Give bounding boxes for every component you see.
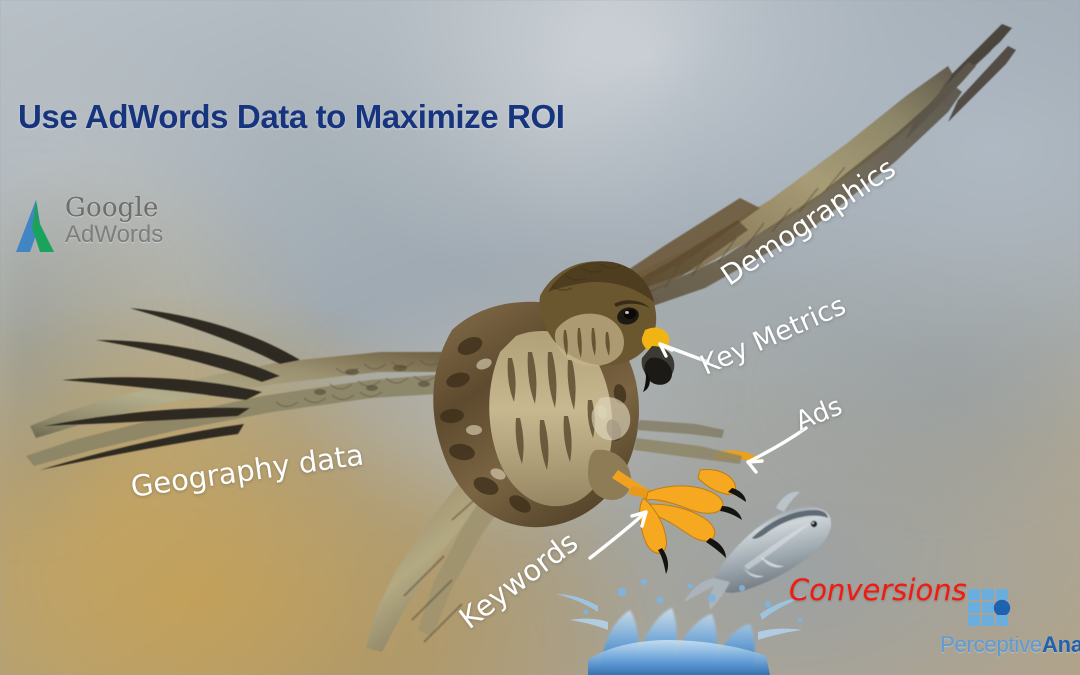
- perceptive-ana-grid-icon: [967, 588, 1011, 635]
- arrow-keywords: [590, 512, 646, 558]
- perceptive-ana-logo: PerceptiveAna: [940, 588, 1080, 660]
- brand-name-bold: Ana: [1042, 632, 1080, 657]
- bird-left-wing: [26, 308, 470, 470]
- page-title: Use AdWords Data to Maximize ROI: [18, 98, 564, 136]
- google-adwords-wordmark: Google AdWords: [65, 194, 163, 248]
- brand-name-light: Perceptive: [940, 632, 1042, 657]
- water-splash: [556, 579, 806, 675]
- google-adwords-line2: AdWords: [65, 222, 163, 248]
- google-adwords-line1: Google: [65, 194, 163, 222]
- banner-image: Use AdWords Data to Maximize ROI Google …: [0, 0, 1080, 675]
- arrow-ads: [748, 428, 806, 472]
- google-adwords-logo: Google AdWords: [10, 196, 190, 260]
- bird-right-wing: [600, 24, 1016, 318]
- perceptive-ana-wordmark: PerceptiveAna: [940, 632, 1080, 658]
- google-adwords-a-mark: [10, 198, 62, 261]
